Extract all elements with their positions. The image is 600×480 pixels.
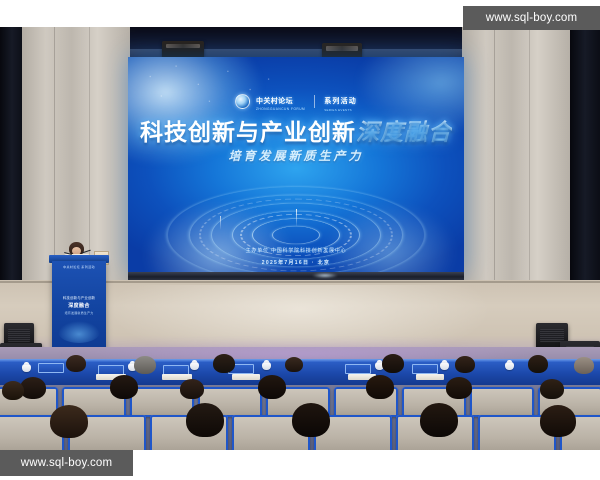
- ripple-ring: [272, 226, 320, 244]
- audience-head: [292, 403, 330, 437]
- podium-wave-graphic: [58, 321, 100, 343]
- audience-head: [540, 379, 564, 399]
- forum-logo-cn: 中关村论坛: [256, 98, 293, 105]
- led-stage-screen: 中关村论坛 ZHONGGUANCUN FORUM 系列活动 SERIES EVE…: [128, 57, 464, 272]
- audience-head: [258, 375, 286, 399]
- forum-series-en: SERIES EVENTS: [324, 108, 357, 112]
- forum-logo-text: 中关村论坛 ZHONGGUANCUN FORUM: [256, 90, 305, 112]
- audience-head: [2, 381, 24, 400]
- ripple-rings-graphic: [161, 175, 431, 272]
- forum-series-cn: 系列活动: [324, 98, 357, 105]
- teacup: [190, 362, 199, 370]
- watermark-bottom-left: www.sql-boy.com: [0, 450, 133, 476]
- audience-head: [50, 405, 88, 438]
- podium-logo-text: 中关村论坛 系列活动: [52, 265, 106, 269]
- event-title-emphasis: 深度融合: [356, 119, 452, 145]
- audience-head: [285, 357, 303, 372]
- ceiling-light-fixture: [162, 41, 204, 58]
- desk-paper: [416, 374, 444, 380]
- bezel-glint: [312, 273, 338, 278]
- podium-line-1: 科技创新与产业创新: [52, 295, 106, 300]
- audience-head: [574, 357, 594, 374]
- event-subtitle: 培育发展新质生产力: [128, 147, 464, 164]
- event-date-line: 2025年7月16日 · 北京: [128, 259, 464, 266]
- audience-seat: [470, 387, 534, 417]
- podium-line-3: 培育发展新质生产力: [52, 311, 106, 315]
- audience-head: [134, 356, 156, 374]
- name-card: [412, 364, 438, 374]
- desk-paper: [232, 374, 260, 380]
- audience-head: [110, 375, 138, 399]
- audience-head: [446, 377, 472, 399]
- event-title-plain: 科技创新与产业创新: [140, 119, 356, 145]
- audience-head: [186, 403, 224, 437]
- podium: 中关村论坛 系列活动 科技创新与产业创新 深度融合 培育发展新质生产力: [52, 261, 106, 351]
- right-wall-panel: [462, 27, 570, 317]
- audience-head: [382, 354, 404, 373]
- forum-logo-en: ZHONGGUANCUN FORUM: [256, 108, 305, 112]
- screen-bottom-bezel: [128, 272, 464, 280]
- event-title: 科技创新与产业创新深度融合: [128, 113, 464, 147]
- podium-line-2: 深度融合: [52, 302, 106, 309]
- teacup: [440, 362, 449, 370]
- teacup: [22, 364, 31, 372]
- audience-head: [20, 377, 46, 399]
- ripple-pin: [296, 209, 297, 227]
- name-card: [38, 363, 64, 373]
- forum-series-text: 系列活动 SERIES EVENTS: [324, 90, 357, 112]
- organizer-line: 主办单位 中国科学院科技创新发展中心: [128, 247, 464, 254]
- screenshot-root: 中关村论坛 ZHONGGUANCUN FORUM 系列活动 SERIES EVE…: [0, 0, 600, 480]
- teacup: [505, 362, 514, 370]
- audience-head: [213, 354, 235, 373]
- conference-hall-photo: 中关村论坛 ZHONGGUANCUN FORUM 系列活动 SERIES EVE…: [0, 27, 600, 450]
- forum-logo-lockup: 中关村论坛 ZHONGGUANCUN FORUM 系列活动 SERIES EVE…: [128, 90, 464, 112]
- teacup: [262, 362, 271, 370]
- audience-head: [455, 356, 475, 373]
- audience-head: [528, 355, 548, 373]
- logo-divider: [314, 95, 315, 108]
- audience-head: [420, 403, 458, 437]
- audience-head: [366, 375, 394, 399]
- audience-head: [540, 405, 576, 437]
- forum-logo-icon: [235, 94, 250, 109]
- audience-head: [66, 355, 86, 372]
- audience-head: [180, 379, 204, 399]
- name-card: [345, 364, 371, 374]
- watermark-top-right: www.sql-boy.com: [463, 6, 600, 30]
- ripple-pin: [220, 216, 221, 230]
- audience-area: [0, 347, 600, 450]
